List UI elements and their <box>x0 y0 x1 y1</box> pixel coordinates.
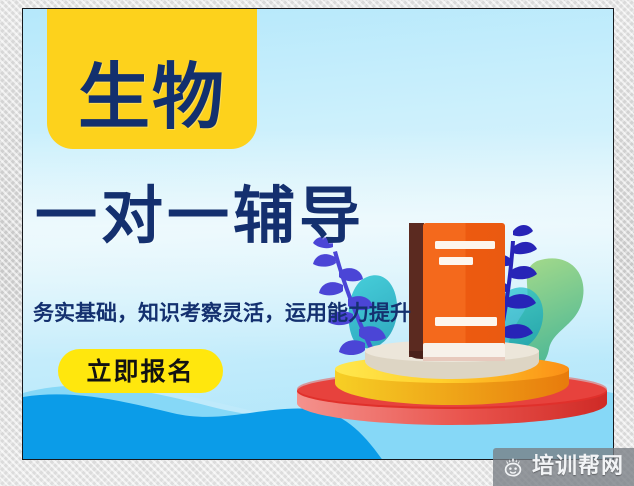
subject-badge: 生物 <box>47 8 257 149</box>
enroll-now-label: 立即报名 <box>86 359 194 384</box>
sun-face-icon <box>501 455 525 479</box>
subject-badge-label: 生物 <box>78 61 226 133</box>
enroll-now-button[interactable]: 立即报名 <box>58 349 223 393</box>
textbook <box>409 223 505 361</box>
watermark-label: 培训帮网 <box>532 456 624 478</box>
watermark: 培训帮网 <box>493 448 634 486</box>
subtitle-text: 务实基础，知识考察灵活，运用能力提升 <box>33 297 411 327</box>
page-title: 一对一辅导 <box>35 185 365 247</box>
poster-canvas: 生物 一对一辅导 务实基础，知识考察灵活，运用能力提升 立即报名 <box>22 8 614 460</box>
poster-outer-frame: 生物 一对一辅导 务实基础，知识考察灵活，运用能力提升 立即报名 培训帮网 <box>0 0 634 486</box>
